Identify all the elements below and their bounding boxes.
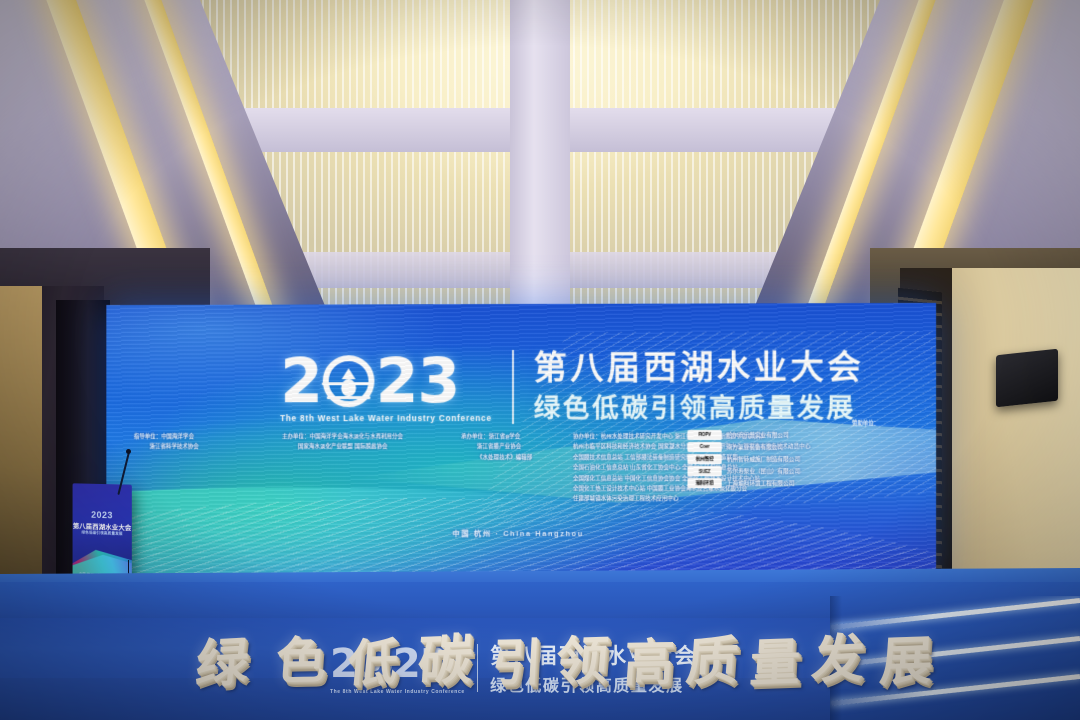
credit-line: 承办单位：浙江省ള学会: [461, 432, 573, 442]
stage-letter: 领: [554, 635, 611, 689]
stage-letter: 展: [878, 635, 934, 689]
credit-line: 住建部城镇水体污染治理工程技术应用中心: [573, 494, 823, 505]
speaker-podium: 2023 第八届西湖水业大会 绿色低碳引领高质量发展 中国 杭州 · China…: [73, 483, 132, 583]
sponsor-logo: ROPV: [687, 430, 721, 440]
credit-line: 浙江省科学技术协会: [134, 442, 282, 452]
stage-letter: 质: [684, 635, 740, 689]
sponsor-name: 上海瑜科环境工程有限公司: [727, 479, 795, 487]
stage-letter: 绿: [194, 637, 251, 692]
conference-theme-cn: 绿色低碳引领高质量发展: [534, 391, 865, 426]
sponsor-logo: SUEZ: [687, 466, 721, 476]
conference-titles: 第八届西湖水业大会 绿色低碳引领高质量发展: [534, 347, 865, 425]
stage-letter: 碳: [416, 633, 474, 689]
stage-letter: 引: [491, 638, 544, 689]
podium-year: 2023: [73, 509, 132, 521]
wall-left-panel: [0, 286, 42, 616]
credit-line: 浙江省膜产业协会: [461, 442, 573, 452]
credits-column-organizer: 承办单位：浙江省ള学会 浙江省膜产业协会 《水处理技术》编辑部: [461, 432, 573, 505]
conference-stage-scene: 2 2 3 The 8th West Lake Water Industry C…: [0, 0, 1080, 720]
credit-line: 指导单位：中国海洋学会: [134, 432, 282, 442]
conference-title-cn: 第八届西湖水业大会: [534, 347, 865, 388]
three-d-stage-letters: 绿 色 低 碳 引 领 高 质 量 发 展: [0, 612, 1080, 720]
sponsor-logo: 瑜科环境: [687, 478, 721, 488]
sponsor-row: 瑜科环境 上海瑜科环境工程有限公司: [687, 478, 879, 488]
credits-column-host: 主办单位：中国海洋学会海水淡化与水再利用分会 国家海水淡化产业联盟 国际脱盐协会: [282, 432, 461, 505]
year-digits: 2 2 3: [280, 351, 492, 411]
logo-divider: [512, 350, 514, 424]
stage-letter: 色: [274, 636, 328, 687]
sponsor-name: 杭州智转威施厂制造有限公司: [727, 455, 800, 463]
sponsor-list: 赞助单位： ROPV 哈尔滨乐普实业有限公司 Coer 南方氢业装备有限公司 杭…: [687, 430, 879, 488]
sponsor-name: 哈尔滨乐普实业有限公司: [727, 431, 789, 439]
microphone-head-icon: [126, 449, 131, 454]
conference-logo-lockup: 2 2 3 The 8th West Lake Water Industry C…: [280, 347, 864, 425]
year-logo: 2 2 3 The 8th West Lake Water Industry C…: [280, 351, 492, 423]
sponsor-heading: 赞助单位：: [852, 419, 879, 427]
sponsor-logo: Coer: [687, 442, 721, 452]
credit-line: 国家海水淡化产业联盟 国际脱盐协会: [282, 442, 461, 452]
ceiling-beam-vertical: [510, 0, 570, 318]
credit-line: 主办单位：中国海洋学会海水淡化与水再利用分会: [282, 432, 461, 442]
credits-column-guidance: 指导单位：中国海洋学会 浙江省科学技术协会: [134, 432, 282, 504]
stage-letter: 发: [810, 633, 867, 688]
water-drop-pagoda-icon: [323, 355, 375, 407]
sponsor-row: Coer 南方氢业装备有限公司: [687, 442, 879, 452]
podium-subtitle: 绿色低碳引领高质量发展: [73, 530, 132, 537]
sponsor-row: ROPV 哈尔滨乐普实业有限公司: [687, 430, 879, 440]
credit-line: 《水处理技术》编辑部: [461, 453, 573, 463]
venue-location-text: 中国 杭州 · China Hangzhou: [106, 527, 936, 539]
stage-letter: 高: [622, 638, 676, 689]
sponsor-logo: 杭州智控: [687, 454, 721, 464]
stage-letter: 低: [346, 637, 401, 689]
sponsor-row: 杭州智控 杭州智转威施厂制造有限公司: [687, 454, 879, 464]
year-digit-4: 3: [418, 351, 460, 410]
sponsor-name: 苏尔寿泵业（昆山）有限公司: [727, 467, 800, 475]
year-digit-3: 2: [376, 351, 418, 410]
year-digit-1: 2: [280, 351, 322, 410]
sponsor-row: SUEZ 苏尔寿泵业（昆山）有限公司: [687, 466, 879, 476]
led-backdrop-screen: 2 2 3 The 8th West Lake Water Industry C…: [106, 303, 936, 587]
wall-speaker: [996, 349, 1058, 408]
sponsor-name: 南方氢业装备有限公司: [727, 443, 783, 451]
stage-letter: 量: [749, 637, 802, 689]
